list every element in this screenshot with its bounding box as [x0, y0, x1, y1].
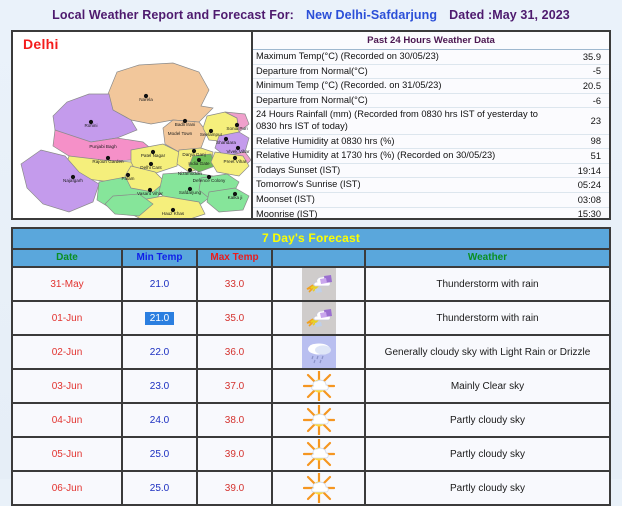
- map-region-label: Narela: [139, 97, 153, 102]
- weather-data-value: -5: [549, 66, 607, 76]
- map-region-label: Rajouri Garden: [92, 159, 124, 164]
- weather-data-label: Moonrise (IST): [256, 208, 549, 222]
- page-title-prefix: Local Weather Report and Forecast For:: [52, 8, 294, 22]
- weather-data-row: Todays Sunset (IST)19:14: [253, 164, 609, 179]
- sun-cloud-icon: [302, 472, 336, 504]
- forecast-min-temp[interactable]: 25.0: [123, 438, 198, 470]
- page-title: Local Weather Report and Forecast For: N…: [0, 0, 622, 30]
- weather-data-value: 05:24: [549, 180, 607, 190]
- forecast-min-temp[interactable]: 24.0: [123, 404, 198, 436]
- forecast-min-temp[interactable]: 25.0: [123, 472, 198, 504]
- forecast-date: 06-Jun: [13, 472, 123, 504]
- forecast-max-temp: 39.0: [198, 472, 273, 504]
- report-date: Dated :May 31, 2023: [449, 8, 570, 22]
- forecast-icon-cell: [273, 404, 366, 436]
- forecast-row[interactable]: 02-Jun22.036.0Generally cloudy sky with …: [13, 336, 609, 370]
- weather-data-row: Maximum Temp(°C) (Recorded on 30/05/23)3…: [253, 50, 609, 65]
- map-region-label: Kalka ji: [228, 195, 243, 200]
- forecast-icon-cell: [273, 438, 366, 470]
- rain-cloud-icon: [302, 336, 336, 368]
- forecast-date: 31-May: [13, 268, 123, 300]
- map-title: Delhi: [23, 36, 59, 52]
- forecast-row[interactable]: 31-May21.033.0Thunderstorm with rain: [13, 268, 609, 302]
- forecast-row[interactable]: 04-Jun24.038.0Partly cloudy sky: [13, 404, 609, 438]
- weather-data-label: 24 Hours Rainfall (mm) (Recorded from 08…: [256, 108, 549, 133]
- map-region-label: Shahdara: [216, 140, 236, 145]
- weather-data-row: Relative Humidity at 0830 hrs (%)98: [253, 135, 609, 150]
- forecast-weather-description: Partly cloudy sky: [366, 438, 609, 470]
- column-header-icon-spacer: [273, 250, 366, 266]
- delhi-district-map: NarelaRohiniBadli IraniModel TownSeelamp…: [13, 32, 251, 218]
- weather-data-value: 19:14: [549, 166, 607, 176]
- forecast-max-temp: 39.0: [198, 438, 273, 470]
- weather-data-row: Minimum Temp (°C) (Recorded. on 31/05/23…: [253, 79, 609, 94]
- thunderstorm-rain-icon: [302, 302, 336, 334]
- forecast-icon-cell: [273, 302, 366, 334]
- map-region-label: Seelampur: [200, 132, 223, 137]
- forecast-weather-description: Thunderstorm with rain: [366, 268, 609, 300]
- column-header-date: Date: [13, 250, 123, 266]
- forecast-max-temp: 36.0: [198, 336, 273, 368]
- weather-data-label: Maximum Temp(°C) (Recorded on 30/05/23): [256, 50, 549, 64]
- forecast-weather-description: Thunderstorm with rain: [366, 302, 609, 334]
- map-region-label: Punjabi Bagh: [89, 144, 117, 149]
- forecast-title: 7 Day's Forecast: [13, 229, 609, 250]
- forecast-max-temp: 33.0: [198, 268, 273, 300]
- forecast-date: 05-Jun: [13, 438, 123, 470]
- past-24-rows: Maximum Temp(°C) (Recorded on 30/05/23)3…: [253, 50, 609, 221]
- weather-report-page: Local Weather Report and Forecast For: N…: [0, 0, 622, 479]
- forecast-row[interactable]: 01-Jun21.035.0Thunderstorm with rain: [13, 302, 609, 336]
- top-panel: Delhi: [11, 30, 611, 220]
- past-24-heading: Past 24 Hours Weather Data: [253, 32, 609, 50]
- weather-data-row: Moonrise (IST)15:30: [253, 208, 609, 222]
- forecast-weather-description: Mainly Clear sky: [366, 370, 609, 402]
- forecast-date: 02-Jun: [13, 336, 123, 368]
- map-region-label: Safdarjung: [179, 190, 202, 195]
- forecast-icon-cell: [273, 472, 366, 504]
- map-region-label: Patel Nagar: [141, 153, 166, 158]
- forecast-date: 01-Jun: [13, 302, 123, 334]
- forecast-weather-description: Partly cloudy sky: [366, 472, 609, 504]
- weather-data-value: 03:08: [549, 195, 607, 205]
- map-region-label: Defence Colony: [193, 178, 226, 183]
- thunderstorm-rain-icon: [302, 268, 336, 300]
- forecast-min-temp[interactable]: 23.0: [123, 370, 198, 402]
- forecast-icon-cell: [273, 336, 366, 368]
- sun-cloud-icon: [302, 370, 336, 402]
- map-region-label: Rohini: [84, 123, 97, 128]
- forecast-table: 7 Day's Forecast Date Min Temp Max Temp …: [11, 227, 611, 506]
- sun-cloud-icon: [302, 438, 336, 470]
- weather-data-row: Relative Humidity at 1730 hrs (%) (Recor…: [253, 149, 609, 164]
- map-region-label: Preet Vihar: [224, 159, 247, 164]
- weather-data-row: 24 Hours Rainfall (mm) (Recorded from 08…: [253, 108, 609, 134]
- forecast-weather-description: Partly cloudy sky: [366, 404, 609, 436]
- weather-data-value: 51: [549, 151, 607, 161]
- sun-cloud-icon: [302, 404, 336, 436]
- weather-data-value: 15:30: [549, 209, 607, 219]
- weather-data-label: Tomorrow's Sunrise (IST): [256, 178, 549, 192]
- weather-data-label: Moonset (IST): [256, 193, 549, 207]
- weather-data-row: Moonset (IST)03:08: [253, 193, 609, 208]
- weather-data-label: Relative Humidity at 1730 hrs (%) (Recor…: [256, 149, 549, 163]
- delhi-map-panel: Delhi: [13, 32, 253, 218]
- forecast-row[interactable]: 05-Jun25.039.0Partly cloudy sky: [13, 438, 609, 472]
- map-region-label: Badli Irani: [175, 122, 195, 127]
- map-region-label: Vivek Vihar: [226, 149, 250, 154]
- forecast-max-temp: 35.0: [198, 302, 273, 334]
- weather-data-value: 20.5: [549, 81, 607, 91]
- column-header-max-temp: Max Temp: [198, 250, 273, 266]
- forecast-icon-cell: [273, 268, 366, 300]
- weather-data-row: Departure from Normal(°C)-6: [253, 94, 609, 109]
- forecast-date: 03-Jun: [13, 370, 123, 402]
- map-region-label: Najafgarh: [63, 178, 83, 183]
- weather-data-row: Departure from Normal(°C)-5: [253, 65, 609, 80]
- weather-data-label: Minimum Temp (°C) (Recorded. on 31/05/23…: [256, 79, 549, 93]
- forecast-min-temp[interactable]: 21.0: [123, 302, 198, 334]
- forecast-row[interactable]: 06-Jun25.039.0Partly cloudy sky: [13, 472, 609, 506]
- weather-data-value: -6: [549, 96, 607, 106]
- weather-data-label: Departure from Normal(°C): [256, 94, 549, 108]
- map-region-label: Vasant Vihar: [137, 191, 163, 196]
- map-region-label: Hauz Khas: [162, 211, 185, 216]
- map-region-label: Darya Ganj: [182, 152, 205, 157]
- forecast-row[interactable]: 03-Jun23.037.0Mainly Clear sky: [13, 370, 609, 404]
- map-region-label: Nizamuddin: [178, 171, 203, 176]
- map-region-label: Delhi Cant: [140, 165, 162, 170]
- station-name: New Delhi-Safdarjung: [306, 8, 437, 22]
- map-region-label: Sonia Puri: [226, 126, 247, 131]
- weather-data-value: 23: [549, 116, 607, 126]
- weather-data-label: Departure from Normal(°C): [256, 65, 549, 79]
- forecast-header-row: Date Min Temp Max Temp Weather: [13, 250, 609, 268]
- map-region-label: India Gate: [188, 161, 210, 166]
- past-24-hours-panel: Past 24 Hours Weather Data Maximum Temp(…: [253, 32, 609, 218]
- selected-value[interactable]: 21.0: [145, 312, 174, 325]
- weather-data-label: Todays Sunset (IST): [256, 164, 549, 178]
- map-region-label: Model Town: [168, 131, 193, 136]
- weather-data-value: 35.9: [549, 52, 607, 62]
- forecast-date: 04-Jun: [13, 404, 123, 436]
- forecast-body: 31-May21.033.0Thunderstorm with rain01-J…: [13, 268, 609, 506]
- forecast-max-temp: 38.0: [198, 404, 273, 436]
- forecast-icon-cell: [273, 370, 366, 402]
- forecast-min-temp[interactable]: 21.0: [123, 268, 198, 300]
- forecast-weather-description: Generally cloudy sky with Light Rain or …: [366, 336, 609, 368]
- map-region-label: Palam: [121, 176, 134, 181]
- weather-data-value: 98: [549, 136, 607, 146]
- weather-data-label: Relative Humidity at 0830 hrs (%): [256, 135, 549, 149]
- column-header-weather: Weather: [366, 250, 609, 266]
- forecast-min-temp[interactable]: 22.0: [123, 336, 198, 368]
- forecast-max-temp: 37.0: [198, 370, 273, 402]
- weather-data-row: Tomorrow's Sunrise (IST)05:24: [253, 178, 609, 193]
- column-header-min-temp: Min Temp: [123, 250, 198, 266]
